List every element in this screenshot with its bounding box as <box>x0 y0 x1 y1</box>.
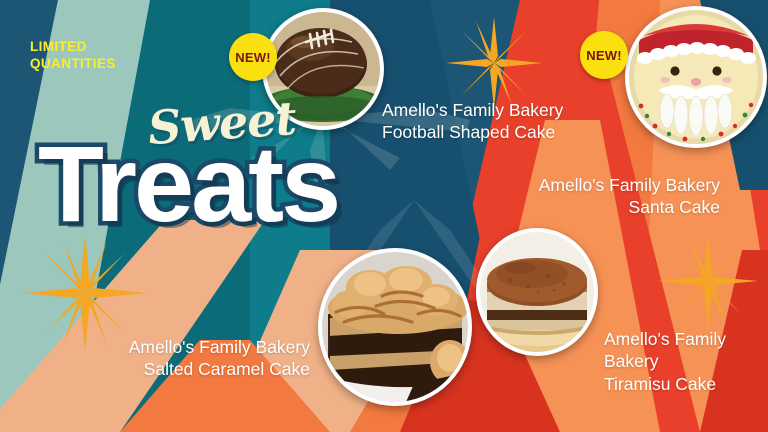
product-label-tiramisu-cake: Amello's Family Bakery Tiramisu Cake <box>604 328 768 395</box>
product-photo-tiramisu-cake[interactable] <box>476 228 598 356</box>
product-label-football-cake: Amello's Family Bakery Football Shaped C… <box>382 99 612 144</box>
product-photo-santa-cake[interactable] <box>625 6 767 148</box>
limited-quantities-text: LIMITED QUANTITIES <box>30 38 200 73</box>
product-label-santa-cake: Amello's Family Bakery Santa Cake <box>470 174 720 219</box>
salted-caramel-chocolate-layer-cake-image <box>322 252 468 402</box>
starburst-icon-right <box>658 233 758 329</box>
cocoa-dusted-tiramisu-cake-image <box>480 232 594 352</box>
new-badge-football: NEW! <box>229 33 277 81</box>
new-badge-santa: NEW! <box>580 31 628 79</box>
santa-face-decorated-cake-image <box>629 10 763 144</box>
starburst-icon-top <box>446 17 542 109</box>
sweet-script-word: Sweet <box>146 91 297 155</box>
product-label-salted-caramel-cake: Amello's Family Bakery Salted Caramel Ca… <box>60 336 310 381</box>
product-photo-salted-caramel-cake[interactable] <box>318 248 472 406</box>
promo-banner: LIMITED QUANTITIES Sweet Treats <box>0 0 768 432</box>
starburst-icon-left <box>23 235 147 351</box>
